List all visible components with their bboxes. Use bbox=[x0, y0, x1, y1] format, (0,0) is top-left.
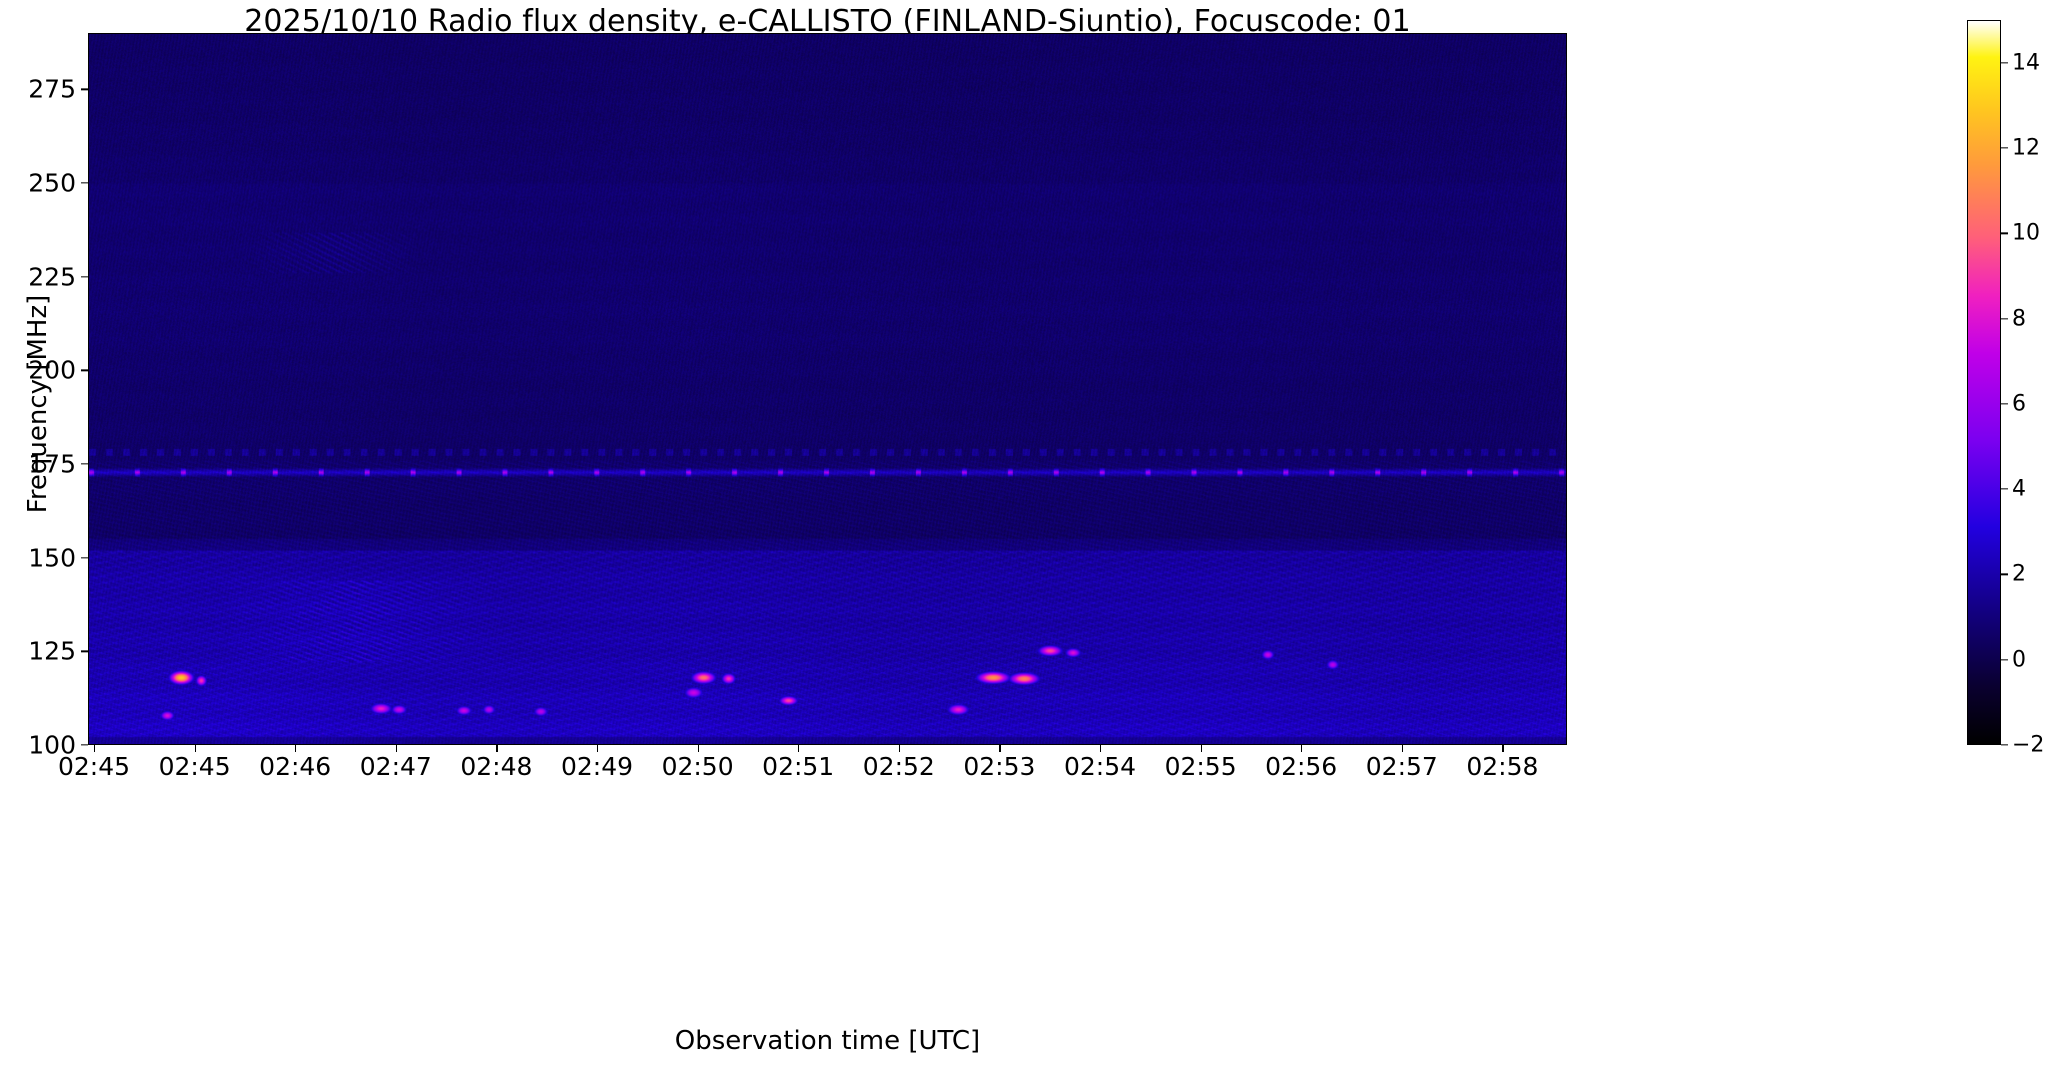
colorbar bbox=[1967, 20, 2001, 745]
y-axis-label: Frequency [MHz] bbox=[23, 104, 53, 704]
x-tick-label: 02:47 bbox=[360, 752, 432, 781]
x-tick-mark bbox=[94, 745, 95, 752]
colorbar-tick-mark bbox=[2001, 744, 2008, 745]
x-tick-mark bbox=[496, 745, 497, 752]
colorbar-tick-mark bbox=[2001, 62, 2008, 63]
x-tick-label: 02:53 bbox=[963, 752, 1035, 781]
colorbar-tick-mark bbox=[2001, 318, 2008, 319]
x-tick-label: 02:54 bbox=[1064, 752, 1136, 781]
colorbar-tick-label: 4 bbox=[2012, 477, 2026, 502]
x-tick-mark bbox=[698, 745, 699, 752]
x-tick-label: 02:48 bbox=[460, 752, 532, 781]
y-tick-mark bbox=[81, 370, 88, 371]
spectrogram-plot bbox=[88, 33, 1567, 745]
x-tick-mark bbox=[798, 745, 799, 752]
y-tick-mark bbox=[81, 651, 88, 652]
x-axis-label: Observation time [UTC] bbox=[88, 1026, 1567, 1056]
x-tick-label: 02:56 bbox=[1265, 752, 1337, 781]
colorbar-tick-mark bbox=[2001, 233, 2008, 234]
x-tick-label: 02:50 bbox=[662, 752, 734, 781]
colorbar-tick-label: 10 bbox=[2012, 221, 2040, 246]
x-tick-mark bbox=[295, 745, 296, 752]
x-tick-mark bbox=[1502, 745, 1503, 752]
colorbar-tick-label: 8 bbox=[2012, 306, 2026, 331]
x-tick-mark bbox=[999, 745, 1000, 752]
y-tick-mark bbox=[81, 463, 88, 464]
x-tick-mark bbox=[396, 745, 397, 752]
colorbar-tick-mark bbox=[2001, 659, 2008, 660]
colorbar-tick-mark bbox=[2001, 488, 2008, 489]
colorbar-tick-mark bbox=[2001, 147, 2008, 148]
colorbar-gradient bbox=[1967, 20, 2001, 745]
colorbar-tick-label: 6 bbox=[2012, 391, 2026, 416]
spectrogram-image bbox=[89, 34, 1566, 744]
x-tick-label: 02:58 bbox=[1466, 752, 1538, 781]
x-tick-label: 02:52 bbox=[863, 752, 935, 781]
y-tick-mark bbox=[81, 89, 88, 90]
y-tick-mark bbox=[81, 744, 88, 745]
colorbar-tick-label: 2 bbox=[2012, 562, 2026, 587]
colorbar-tick-label: 14 bbox=[2012, 50, 2040, 75]
x-tick-label: 02:45 bbox=[58, 752, 130, 781]
x-tick-label: 02:57 bbox=[1366, 752, 1438, 781]
x-tick-label: 02:49 bbox=[561, 752, 633, 781]
x-tick-label: 02:45 bbox=[159, 752, 231, 781]
x-tick-mark bbox=[195, 745, 196, 752]
colorbar-tick-mark bbox=[2001, 574, 2008, 575]
x-tick-label: 02:51 bbox=[762, 752, 834, 781]
x-tick-mark bbox=[1301, 745, 1302, 752]
x-tick-label: 02:55 bbox=[1165, 752, 1237, 781]
y-tick-mark bbox=[81, 276, 88, 277]
colorbar-tick-mark bbox=[2001, 403, 2008, 404]
x-tick-mark bbox=[1201, 745, 1202, 752]
colorbar-tick-label: 12 bbox=[2012, 135, 2040, 160]
x-tick-mark bbox=[597, 745, 598, 752]
y-tick-label: 275 bbox=[28, 75, 76, 104]
y-tick-mark bbox=[81, 182, 88, 183]
x-tick-mark bbox=[1402, 745, 1403, 752]
colorbar-tick-label: 0 bbox=[2012, 647, 2026, 672]
x-tick-mark bbox=[899, 745, 900, 752]
y-tick-mark bbox=[81, 557, 88, 558]
colorbar-tick-label: −2 bbox=[2012, 733, 2044, 758]
x-tick-mark bbox=[1100, 745, 1101, 752]
x-tick-label: 02:46 bbox=[259, 752, 331, 781]
